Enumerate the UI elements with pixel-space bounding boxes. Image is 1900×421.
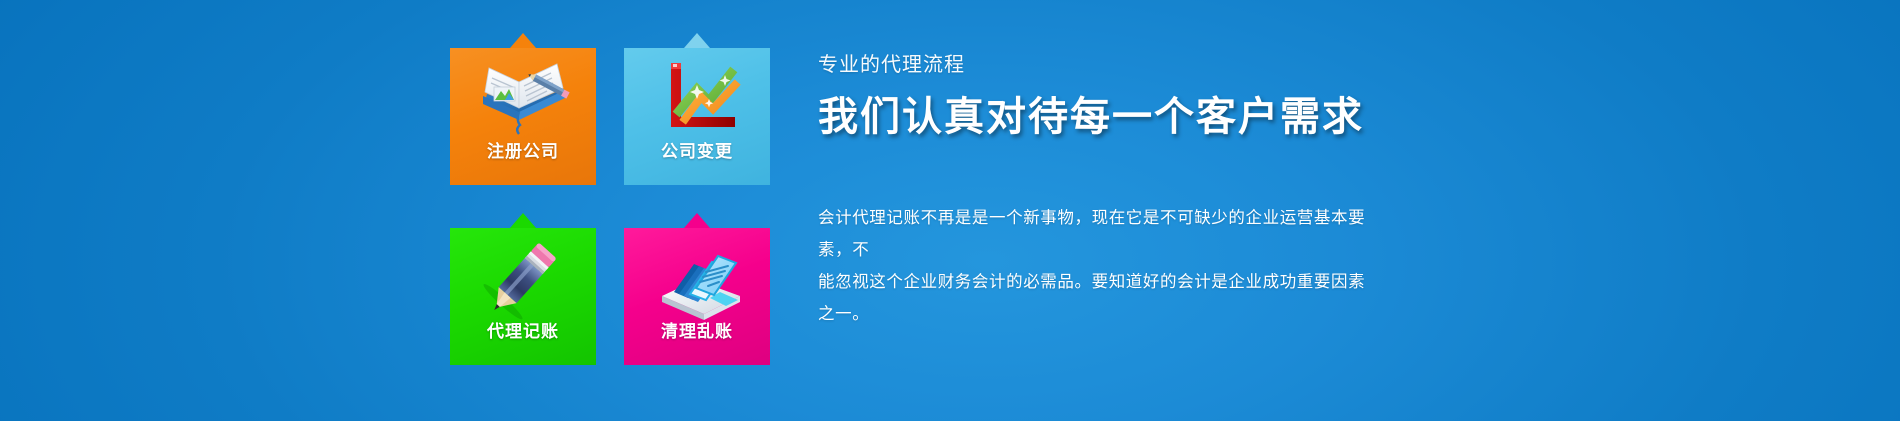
service-tile-company-change[interactable]: 公司变更 <box>624 48 770 185</box>
service-tile-label: 注册公司 <box>450 144 596 161</box>
service-tile-register-company[interactable]: 注册公司 <box>450 48 596 185</box>
growth-chart-icon <box>624 48 770 144</box>
banner-headline: 我们认真对待每一个客户需求 <box>818 94 1798 140</box>
service-tile-label: 清理乱账 <box>624 324 770 341</box>
service-tile-label: 代理记账 <box>450 324 596 341</box>
service-tile-bookkeeping[interactable]: 代理记账 <box>450 228 596 365</box>
tile-notch-icon <box>510 33 536 48</box>
open-book-icon <box>450 48 596 144</box>
tile-notch-icon <box>510 213 536 228</box>
banner-body-copy: 会计代理记账不再是是一个新事物，现在它是不可缺少的企业运营基本要素，不 能忽视这… <box>818 202 1378 330</box>
banner-body-line-2: 能忽视这个企业财务会计的必需品。要知道好的会计是企业成功重要因素之一。 <box>818 266 1378 330</box>
banner-copy: 专业的代理流程 我们认真对待每一个客户需求 会计代理记账不再是是一个新事物，现在… <box>818 52 1798 330</box>
promo-banner: 注册公司 <box>0 0 1900 421</box>
tile-notch-icon <box>684 213 710 228</box>
document-stack-icon <box>624 228 770 324</box>
service-tile-clean-accounts[interactable]: 清理乱账 <box>624 228 770 365</box>
pencil-icon <box>450 228 596 324</box>
banner-eyebrow: 专业的代理流程 <box>818 52 1798 76</box>
banner-body-line-1: 会计代理记账不再是是一个新事物，现在它是不可缺少的企业运营基本要素，不 <box>818 202 1378 266</box>
service-tile-grid: 注册公司 <box>450 48 770 360</box>
service-tile-label: 公司变更 <box>624 144 770 161</box>
tile-notch-icon <box>684 33 710 48</box>
